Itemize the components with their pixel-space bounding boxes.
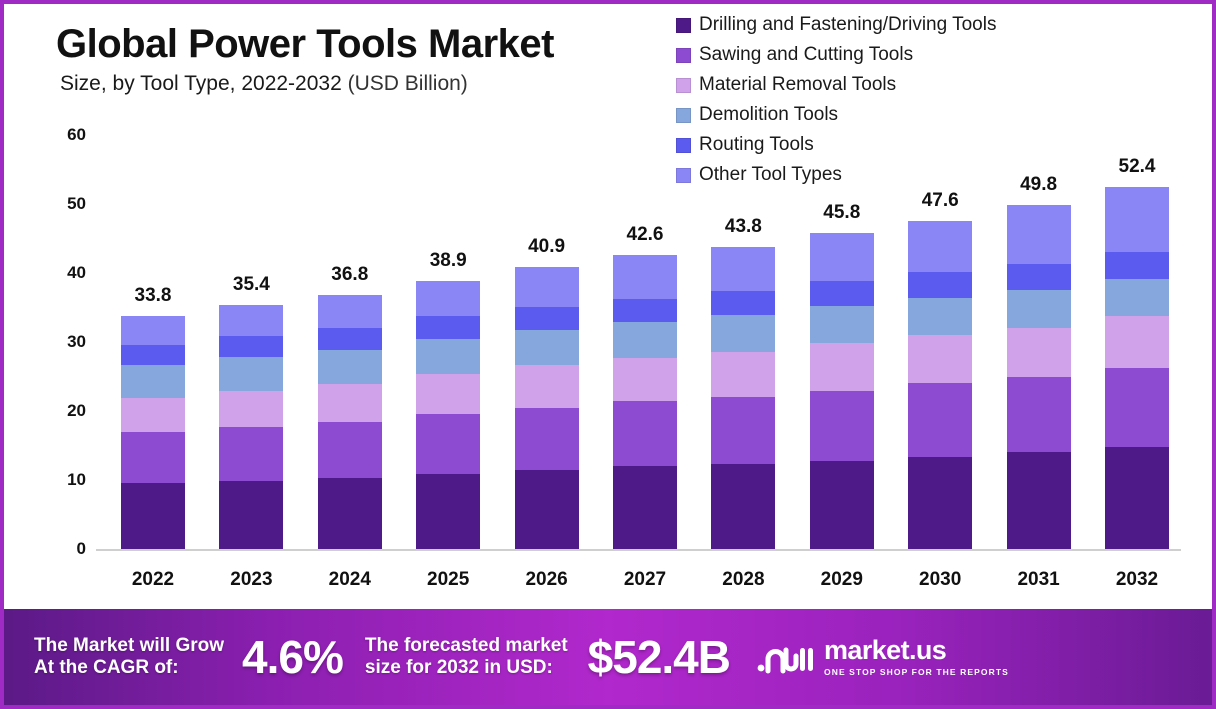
y-axis-tick-label: 20 — [40, 401, 86, 421]
bar-group[interactable]: 49.82031 — [1007, 4, 1071, 604]
bar-total-label: 38.9 — [404, 250, 492, 272]
y-axis-tick-label: 50 — [40, 194, 86, 214]
bar-segment[interactable] — [515, 470, 579, 549]
footer-banner: The Market will Grow At the CAGR of: 4.6… — [4, 609, 1212, 705]
x-axis-tick-label: 2028 — [699, 569, 787, 591]
bar-segment[interactable] — [613, 255, 677, 298]
x-axis-tick-label: 2031 — [995, 569, 1083, 591]
bar-segment[interactable] — [219, 481, 283, 549]
bar-segment[interactable] — [810, 233, 874, 281]
bar-segment[interactable] — [810, 391, 874, 461]
bar-group[interactable]: 33.82022 — [121, 4, 185, 604]
chart-page: Global Power Tools Market Size, by Tool … — [0, 0, 1216, 709]
bar-segment[interactable] — [1105, 252, 1169, 279]
bar-segment[interactable] — [908, 298, 972, 335]
forecast-label-line1: The forecasted market — [365, 635, 568, 657]
x-axis-tick-label: 2027 — [601, 569, 689, 591]
cagr-label: The Market will Grow At the CAGR of: — [34, 635, 224, 680]
bar-group[interactable]: 52.42032 — [1105, 4, 1169, 604]
bar-segment[interactable] — [908, 457, 972, 549]
bar-segment[interactable] — [1007, 328, 1071, 378]
bar-group[interactable]: 35.42023 — [219, 4, 283, 604]
bar-segment[interactable] — [121, 345, 185, 365]
bar-segment[interactable] — [416, 281, 480, 317]
bar-segment[interactable] — [121, 483, 185, 549]
y-axis-tick-label: 0 — [40, 539, 86, 559]
bar-segment[interactable] — [219, 336, 283, 357]
bar-segment[interactable] — [219, 427, 283, 481]
bar-segment[interactable] — [219, 391, 283, 427]
x-axis-tick-label: 2024 — [306, 569, 394, 591]
x-axis-tick-label: 2030 — [896, 569, 984, 591]
market-us-logo[interactable]: market.us ONE STOP SHOP FOR THE REPORTS — [756, 637, 1009, 677]
bar-total-label: 36.8 — [306, 264, 394, 286]
bar-total-label: 45.8 — [798, 202, 886, 224]
bar-segment[interactable] — [711, 315, 775, 352]
bar-segment[interactable] — [219, 357, 283, 391]
x-axis-tick-label: 2032 — [1093, 569, 1181, 591]
bar-segment[interactable] — [1105, 447, 1169, 549]
cagr-label-line1: The Market will Grow — [34, 635, 224, 657]
bar-segment[interactable] — [515, 307, 579, 330]
bar-total-label: 35.4 — [207, 274, 295, 296]
bar-segment[interactable] — [810, 306, 874, 343]
y-axis-tick-label: 30 — [40, 332, 86, 352]
x-axis-tick-label: 2022 — [109, 569, 197, 591]
bar-segment[interactable] — [318, 478, 382, 549]
logo-text-block: market.us ONE STOP SHOP FOR THE REPORTS — [824, 637, 1009, 677]
bar-segment[interactable] — [318, 328, 382, 349]
bar-total-label: 43.8 — [699, 216, 787, 238]
bar-segment[interactable] — [711, 291, 775, 315]
bar-segment[interactable] — [1007, 264, 1071, 290]
x-axis-tick-label: 2025 — [404, 569, 492, 591]
bar-segment[interactable] — [908, 272, 972, 298]
bar-segment[interactable] — [1007, 205, 1071, 264]
bar-total-label: 40.9 — [503, 236, 591, 258]
x-axis-tick-label: 2023 — [207, 569, 295, 591]
bar-segment[interactable] — [613, 466, 677, 549]
forecast-block: The forecasted market size for 2032 in U… — [365, 630, 730, 684]
bar-segment[interactable] — [1007, 377, 1071, 452]
bar-segment[interactable] — [416, 474, 480, 549]
bar-segment[interactable] — [515, 365, 579, 407]
bar-total-label: 33.8 — [109, 285, 197, 307]
market-us-logo-mark — [756, 637, 814, 677]
bar-total-label: 52.4 — [1093, 156, 1181, 178]
bar-segment[interactable] — [711, 464, 775, 549]
bar-segment[interactable] — [515, 408, 579, 470]
bar-group[interactable]: 36.82024 — [318, 4, 382, 604]
forecast-value: $52.4B — [588, 630, 730, 684]
bar-segment[interactable] — [613, 358, 677, 401]
bar-segment[interactable] — [1007, 452, 1071, 549]
bar-segment[interactable] — [318, 350, 382, 385]
bar-segment[interactable] — [416, 316, 480, 338]
y-axis-tick-label: 10 — [40, 470, 86, 490]
bar-segment[interactable] — [515, 267, 579, 307]
bar-segment[interactable] — [1105, 279, 1169, 317]
bar-group[interactable]: 42.62027 — [613, 4, 677, 604]
bar-segment[interactable] — [711, 397, 775, 465]
chart-plot-area: 0102030405060 33.8202235.4202336.8202438… — [4, 4, 1216, 604]
bar-segment[interactable] — [1007, 290, 1071, 327]
bar-segment[interactable] — [318, 384, 382, 422]
bar-segment[interactable] — [318, 295, 382, 328]
bar-segment[interactable] — [1105, 187, 1169, 251]
bar-segment[interactable] — [121, 316, 185, 345]
bar-segment[interactable] — [711, 247, 775, 291]
bar-segment[interactable] — [810, 343, 874, 391]
cagr-value: 4.6% — [242, 630, 343, 684]
logo-tagline: ONE STOP SHOP FOR THE REPORTS — [824, 667, 1009, 677]
bar-segment[interactable] — [515, 330, 579, 366]
bar-segment[interactable] — [810, 281, 874, 306]
bar-segment[interactable] — [416, 339, 480, 374]
bar-group[interactable]: 43.82028 — [711, 4, 775, 604]
bar-segment[interactable] — [810, 461, 874, 549]
x-axis-tick-label: 2026 — [503, 569, 591, 591]
bar-group[interactable]: 47.62030 — [908, 4, 972, 604]
bar-group[interactable]: 40.92026 — [515, 4, 579, 604]
bar-segment[interactable] — [318, 422, 382, 478]
bar-segment[interactable] — [219, 305, 283, 337]
logo-name: market.us — [824, 637, 1009, 664]
bar-group[interactable]: 38.92025 — [416, 4, 480, 604]
bar-segment[interactable] — [711, 352, 775, 397]
cagr-label-line2: At the CAGR of: — [34, 657, 224, 679]
forecast-label-line2: size for 2032 in USD: — [365, 657, 568, 679]
bar-group[interactable]: 45.82029 — [810, 4, 874, 604]
bar-segment[interactable] — [613, 322, 677, 358]
bar-segment[interactable] — [908, 383, 972, 456]
bar-segment[interactable] — [908, 335, 972, 383]
cagr-block: The Market will Grow At the CAGR of: 4.6… — [34, 630, 343, 684]
y-axis-tick-label: 40 — [40, 263, 86, 283]
bar-segment[interactable] — [121, 432, 185, 482]
bar-segment[interactable] — [1105, 368, 1169, 447]
bar-segment[interactable] — [613, 299, 677, 322]
bar-segment[interactable] — [121, 398, 185, 433]
bar-total-label: 49.8 — [995, 174, 1083, 196]
bar-segment[interactable] — [121, 365, 185, 398]
bar-total-label: 47.6 — [896, 190, 984, 212]
bar-segment[interactable] — [613, 401, 677, 466]
x-axis-tick-label: 2029 — [798, 569, 886, 591]
bar-segment[interactable] — [908, 221, 972, 273]
forecast-label: The forecasted market size for 2032 in U… — [365, 635, 568, 680]
y-axis-tick-label: 60 — [40, 125, 86, 145]
bar-segment[interactable] — [1105, 316, 1169, 368]
bar-segment[interactable] — [416, 374, 480, 414]
bar-total-label: 42.6 — [601, 224, 689, 246]
bar-segment[interactable] — [416, 414, 480, 475]
